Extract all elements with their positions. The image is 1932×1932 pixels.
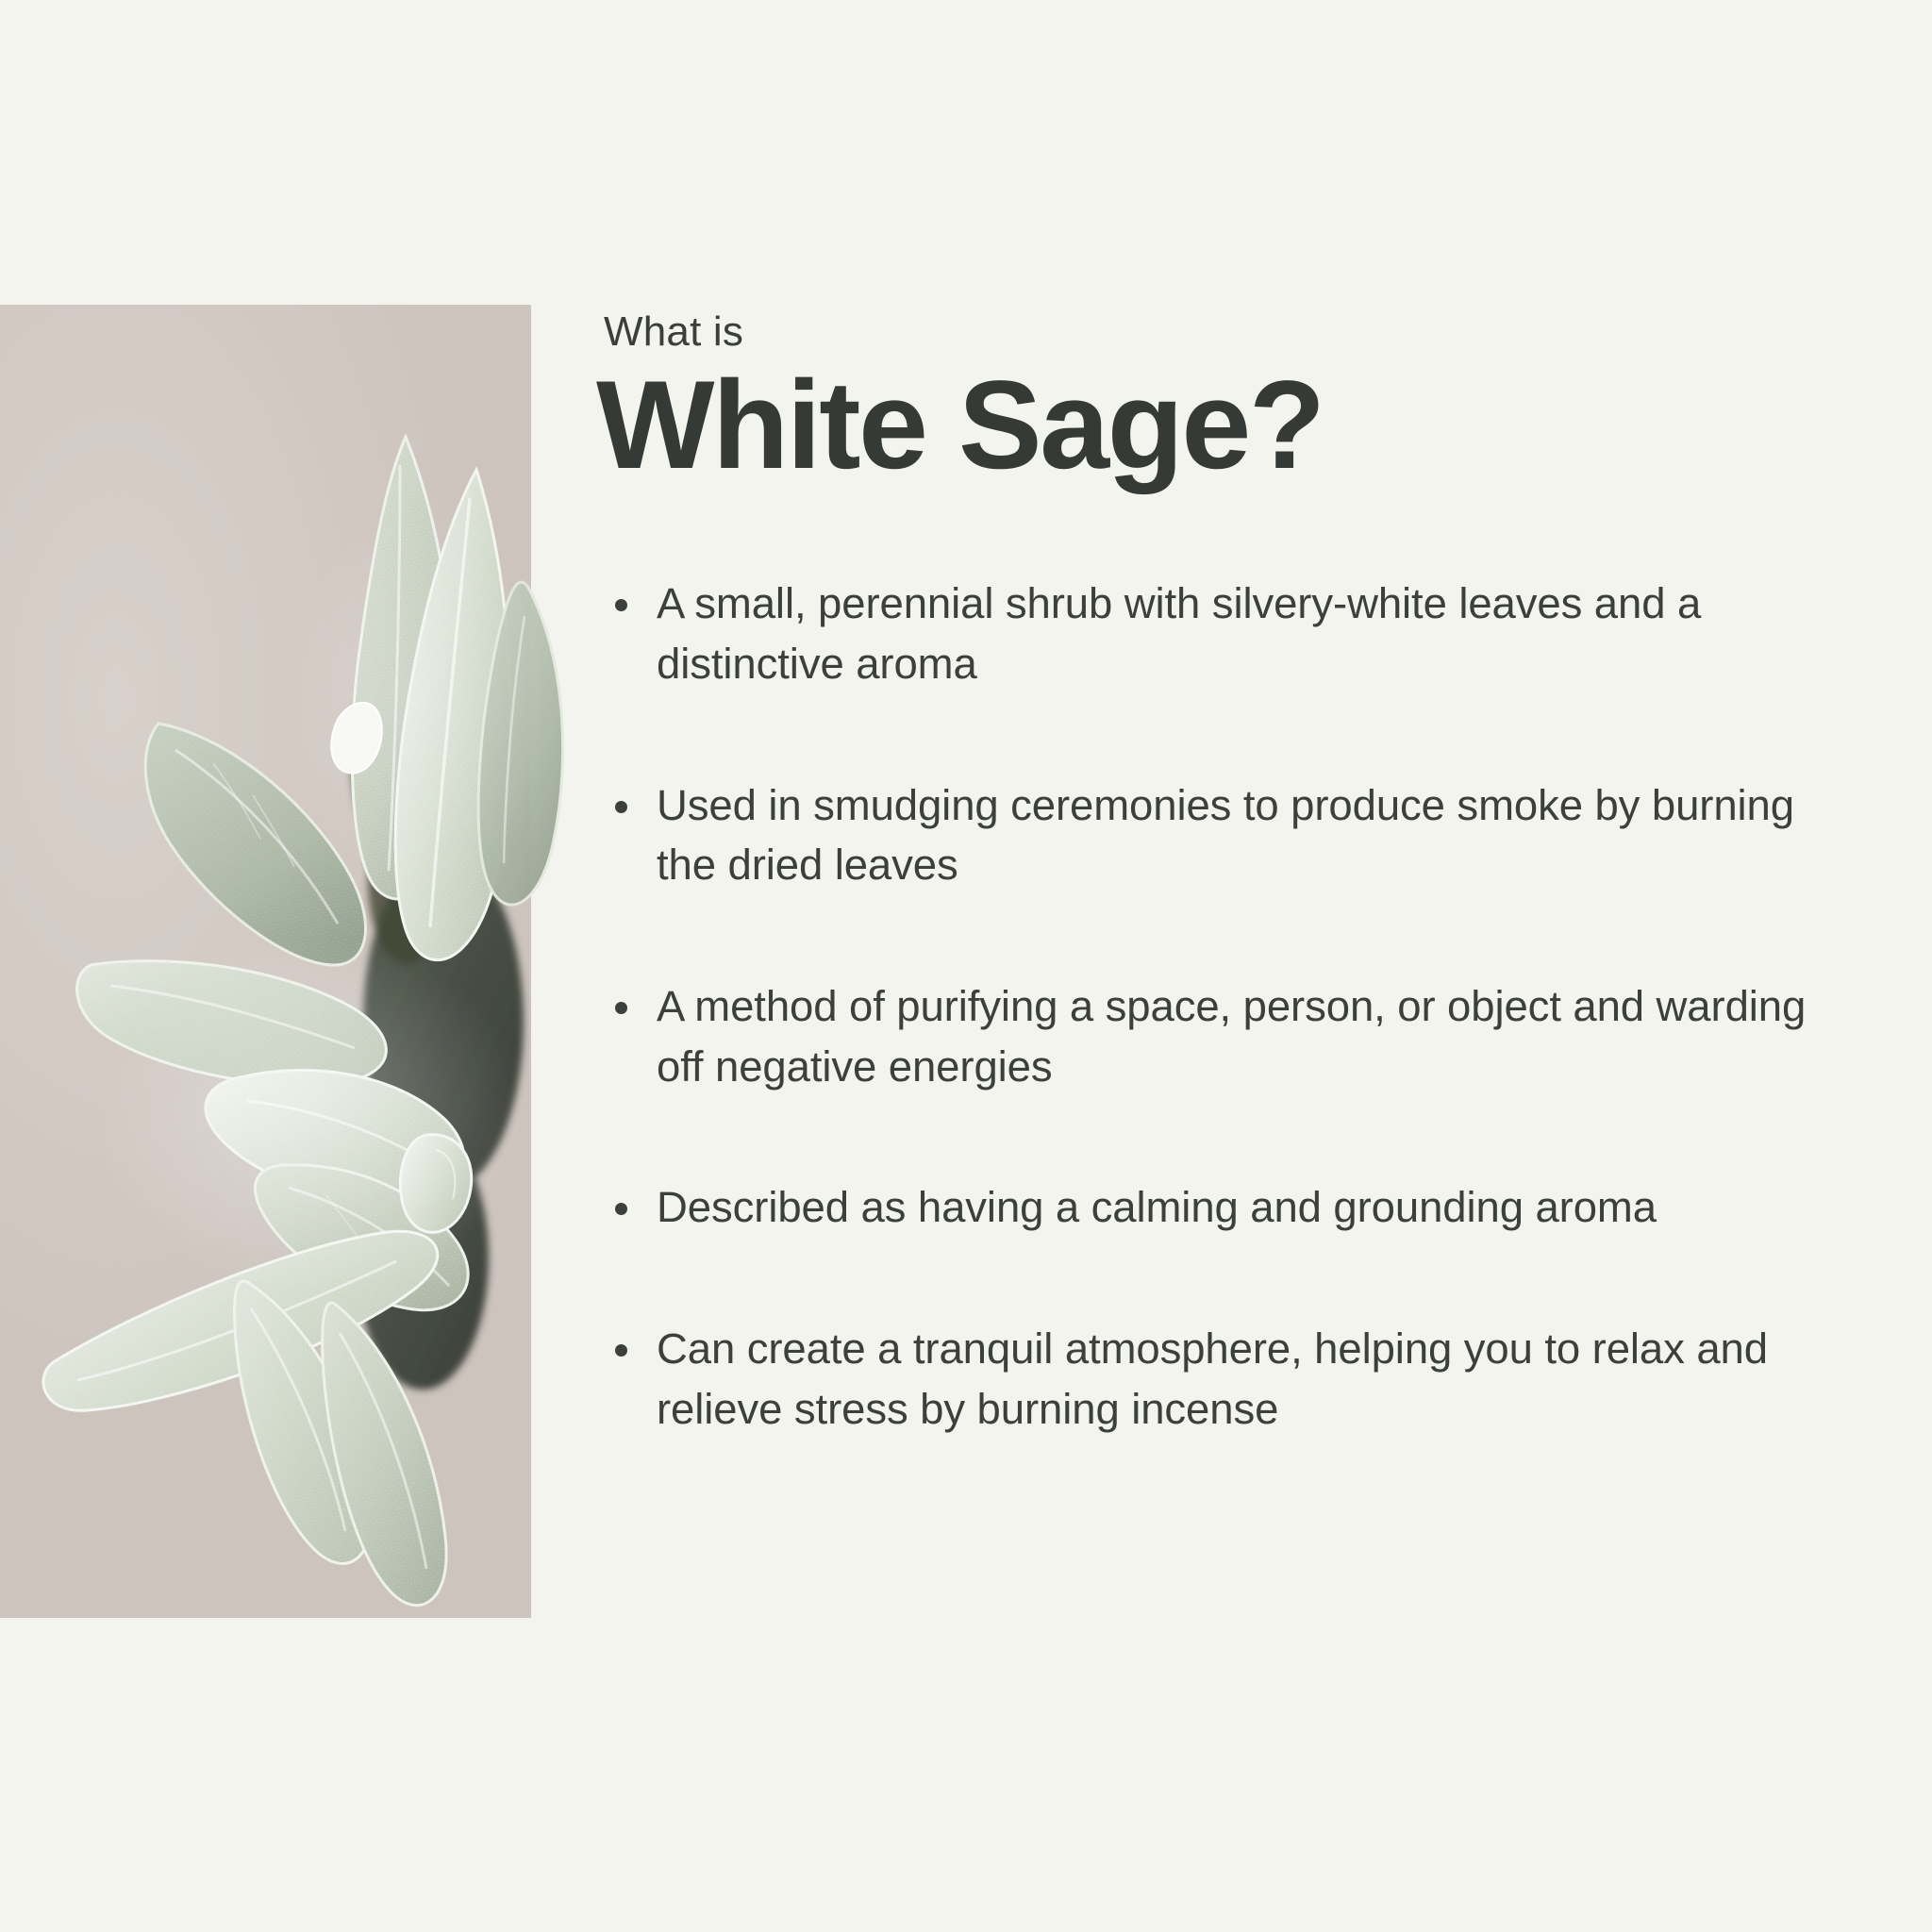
sage-photo-panel (0, 305, 531, 1618)
bullet-dot-icon (615, 599, 627, 611)
bullet-dot-icon (615, 1002, 627, 1014)
eyebrow-label: What is (604, 311, 1828, 353)
list-item-text: Described as having a calming and ground… (657, 1177, 1828, 1238)
list-item-text: A small, perennial shrub with silvery-wh… (657, 574, 1828, 693)
content-column: What is White Sage? A small, perennial s… (602, 311, 1828, 1440)
list-item-text: Used in smudging ceremonies to produce s… (657, 775, 1828, 895)
list-item-text: A method of purifying a space, person, o… (657, 976, 1828, 1096)
list-item: Described as having a calming and ground… (602, 1177, 1828, 1238)
list-item: Used in smudging ceremonies to produce s… (602, 775, 1828, 895)
list-item: A method of purifying a space, person, o… (602, 976, 1828, 1096)
fact-list: A small, perennial shrub with silvery-wh… (602, 574, 1828, 1439)
list-item-text: Can create a tranquil atmosphere, helpin… (657, 1319, 1828, 1439)
list-item: A small, perennial shrub with silvery-wh… (602, 574, 1828, 693)
page-title: White Sage? (596, 360, 1828, 491)
bullet-dot-icon (615, 1344, 627, 1357)
list-item: Can create a tranquil atmosphere, helpin… (602, 1319, 1828, 1439)
bullet-dot-icon (615, 801, 627, 813)
bullet-dot-icon (615, 1203, 627, 1215)
sage-plant-svg (0, 305, 679, 1618)
slide-canvas: What is White Sage? A small, perennial s… (0, 0, 1932, 1932)
sage-plant-illustration (0, 305, 679, 1618)
